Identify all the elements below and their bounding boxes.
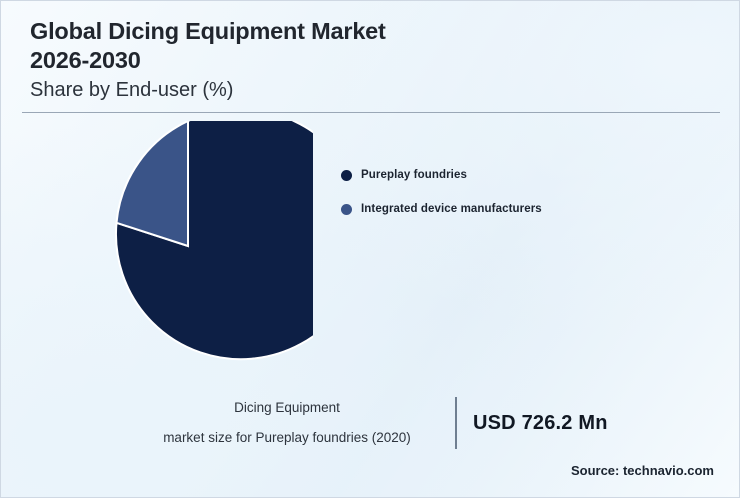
infographic-canvas: Global Dicing Equipment Market 2026-2030…	[0, 0, 740, 498]
page-subtitle: Share by End-user (%)	[30, 77, 690, 104]
kpi-block: Dicing Equipment market size for Purepla…	[119, 393, 679, 453]
title-line-1: Global Dicing Equipment Market	[30, 17, 690, 46]
legend-color-swatch-icon	[341, 170, 352, 181]
legend-label: Pureplay foundries	[361, 169, 467, 181]
header-divider	[22, 112, 720, 113]
kpi-divider	[455, 397, 457, 449]
page-title: Global Dicing Equipment Market 2026-2030…	[30, 17, 690, 104]
kpi-caption-line-2: market size for Pureplay foundries (2020…	[119, 423, 455, 453]
chart-legend: Pureplay foundries Integrated device man…	[341, 169, 671, 237]
pie-chart-svg	[63, 121, 313, 371]
legend-label: Integrated device manufacturers	[361, 203, 542, 215]
pie-slice-integrated-device-manufacturers[interactable]	[117, 121, 189, 246]
legend-item-pureplay-foundries[interactable]: Pureplay foundries	[341, 169, 671, 181]
kpi-caption-line-1: Dicing Equipment	[119, 393, 455, 423]
legend-color-swatch-icon	[341, 204, 352, 215]
kpi-caption: Dicing Equipment market size for Purepla…	[119, 393, 455, 453]
title-line-2: 2026-2030	[30, 46, 690, 75]
kpi-value: USD 726.2 Mn	[473, 412, 608, 435]
source-note: Source: technavio.com	[571, 463, 714, 478]
legend-item-integrated-device-manufacturers[interactable]: Integrated device manufacturers	[341, 203, 671, 215]
pie-chart	[63, 121, 323, 381]
